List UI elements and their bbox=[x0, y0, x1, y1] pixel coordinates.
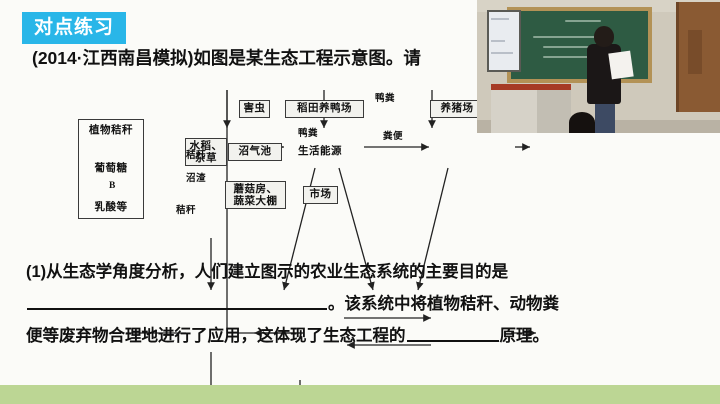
video-chalk-line-1 bbox=[533, 36, 595, 38]
video-teacher-paper bbox=[608, 51, 633, 80]
node-living-energy: 生活能源 bbox=[289, 143, 351, 161]
video-student-head bbox=[569, 112, 595, 133]
label-slurry-return: 沼渣 bbox=[186, 170, 206, 184]
label-duck-manure-right: 鸭粪 bbox=[375, 90, 395, 104]
question-line-3-suffix: 原理。 bbox=[500, 327, 550, 345]
slide-canvas: 对点练习 (2014·江西南昌模拟)如图是某生态工程示意图。请 bbox=[0, 0, 720, 404]
label-straw-to-biogas: 秸秆 bbox=[186, 147, 206, 161]
node-biogas-pit: 沼气池 bbox=[228, 143, 282, 161]
node-glucose: 葡萄糖 bbox=[84, 161, 138, 177]
label-straw-to-mushroom: 秸秆 bbox=[176, 202, 196, 216]
label-duck-manure-down: 鸭粪 bbox=[298, 125, 318, 139]
node-pest: 害虫 bbox=[239, 100, 270, 118]
question-stem: (2014·江西南昌模拟)如图是某生态工程示意图。请 bbox=[32, 47, 502, 69]
video-desk-side bbox=[537, 90, 571, 133]
ecological-engineering-diagram: 植物秸秆 葡萄糖 B 乳酸等 害虫 稻田养鸭场 养猪场 市场 水稻、 杂草 沼气… bbox=[126, 90, 526, 240]
node-mushroom-greenhouse: 蘑菇房、 蔬菜大棚 bbox=[225, 181, 286, 209]
video-screen-text-3 bbox=[491, 52, 513, 54]
node-pig-farm: 养猪场 bbox=[430, 100, 484, 118]
label-pig-manure: 粪便 bbox=[383, 128, 403, 142]
answer-blank-1[interactable] bbox=[27, 293, 327, 310]
question-line-2: 。该系统中将植物秸秆、动物粪 bbox=[26, 288, 702, 320]
section-badge: 对点练习 bbox=[22, 12, 126, 44]
footer-bar bbox=[0, 385, 720, 404]
lecture-video-overlay[interactable] bbox=[477, 0, 720, 133]
node-mushroom-line1: 蘑菇房、 bbox=[234, 183, 278, 195]
question-line-3: 便等废弃物合理地进行了应用，这体现了生态工程的原理。 bbox=[26, 320, 702, 352]
video-screen-text-1 bbox=[491, 18, 509, 20]
node-market-bottom: 市场 bbox=[303, 186, 338, 204]
question-line-1: (1)从生态学角度分析，人们建立图示的农业生态系统的主要目的是 bbox=[26, 256, 702, 288]
video-screen-text-2 bbox=[491, 40, 505, 42]
question-block: (1)从生态学角度分析，人们建立图示的农业生态系统的主要目的是 。该系统中将植物… bbox=[26, 256, 702, 352]
video-teacher-legs bbox=[595, 102, 615, 133]
label-process-b: B bbox=[109, 181, 116, 191]
question-line-2-text: 。该系统中将植物秸秆、动物粪 bbox=[328, 295, 559, 313]
node-plant-straw: 植物秸秆 bbox=[80, 123, 142, 139]
answer-blank-2[interactable] bbox=[407, 326, 499, 342]
video-chalk-title bbox=[565, 20, 601, 22]
node-lactate: 乳酸等 bbox=[84, 200, 138, 216]
video-teacher-head bbox=[594, 26, 614, 47]
video-door-panel bbox=[688, 30, 702, 74]
node-mushroom-line2: 蔬菜大棚 bbox=[234, 195, 278, 207]
question-line-3-prefix: 便等废弃物合理地进行了应用，这体现了生态工程的 bbox=[26, 327, 406, 345]
node-duck-farm: 稻田养鸭场 bbox=[285, 100, 364, 118]
